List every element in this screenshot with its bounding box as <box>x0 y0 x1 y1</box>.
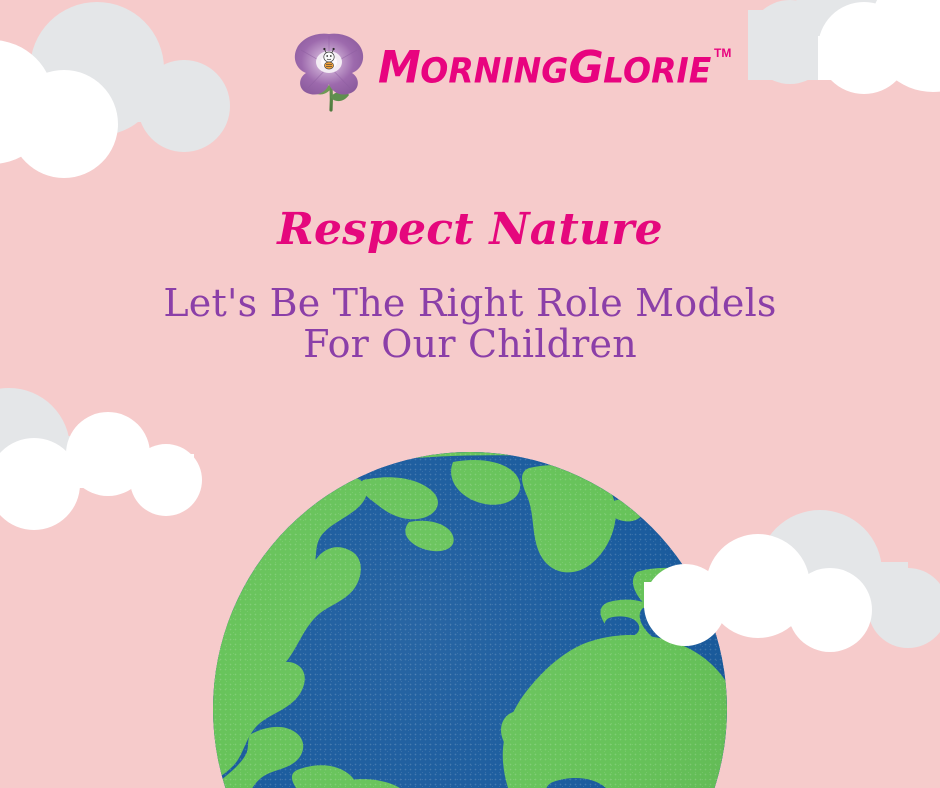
cloud-puff-white <box>706 534 810 638</box>
cloud-base-gray <box>0 436 70 488</box>
cloud-puff-white <box>788 568 872 652</box>
subheadline-line-2: For Our Children <box>303 322 637 366</box>
brand-wordmark-g: G <box>568 42 603 94</box>
cloud-puff-gray <box>0 388 70 510</box>
brand-wordmark-orning: ORNING <box>420 50 568 91</box>
brand-wordmark-lorie: LORIE <box>603 50 711 91</box>
cloud-puff-white <box>0 438 80 530</box>
cloud-mid-left <box>0 392 208 488</box>
cloud-mid-right <box>700 512 940 608</box>
globe-landmasses <box>213 452 727 788</box>
cloud-base-gray <box>758 562 908 608</box>
subheadline: Let's Be The Right Role ModelsFor Our Ch… <box>0 283 940 365</box>
cloud-puff-white <box>66 412 150 496</box>
cloud-puff-gray <box>868 568 940 648</box>
message-block: Respect Nature Let's Be The Right Role M… <box>0 208 940 365</box>
brand-wordmark-wrap: MORNINGGLORIE TM <box>378 48 711 91</box>
brand-wordmark: MORNINGGLORIE <box>378 46 711 91</box>
brand-header: MORNINGGLORIE TM <box>0 0 940 140</box>
headline: Respect Nature <box>0 208 940 252</box>
cloud-puff-gray <box>758 510 882 634</box>
brand-wordmark-m: M <box>378 42 420 94</box>
earth-globe-icon <box>213 452 727 788</box>
trademark-symbol: TM <box>714 46 731 60</box>
morning-glory-flower-icon <box>288 26 372 116</box>
subheadline-line-1: Let's Be The Right Role Models <box>163 281 776 325</box>
cloud-puff-white <box>130 444 202 516</box>
brand-logo-lockup[interactable]: MORNINGGLORIE TM <box>288 26 711 116</box>
cloud-base-white <box>0 454 194 488</box>
poster-canvas: MORNINGGLORIE TM Respect Nature Let's Be… <box>0 0 940 788</box>
